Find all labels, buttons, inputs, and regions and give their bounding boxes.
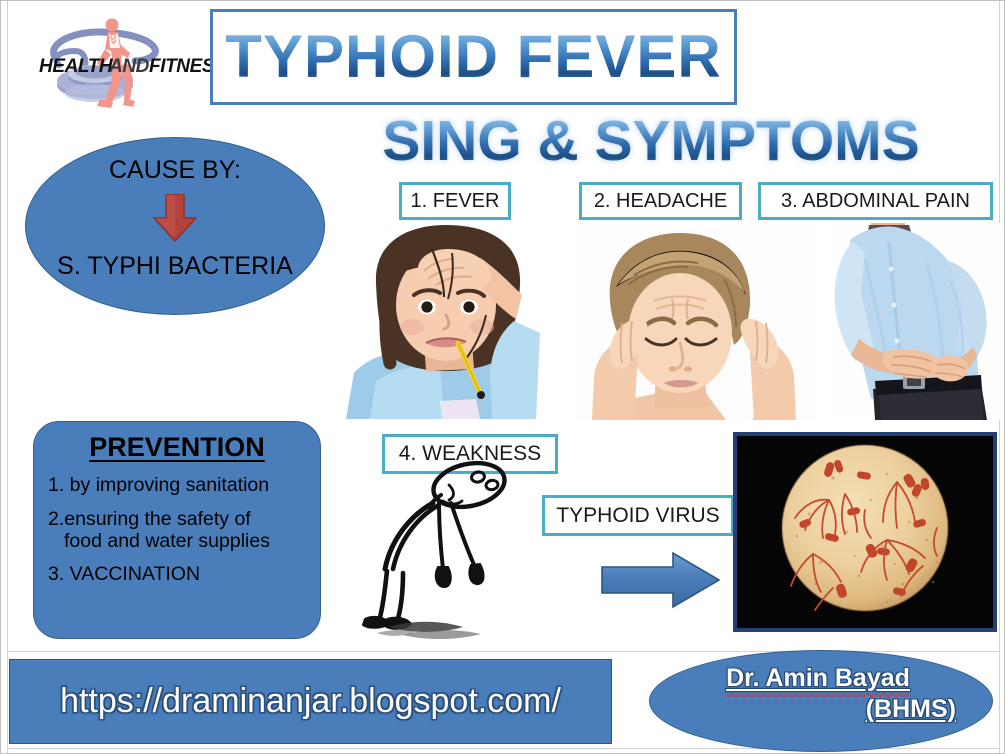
- prevention-title: PREVENTION: [48, 432, 306, 463]
- health-and-fitness-logo: HEALTH AND FITNESS: [25, 15, 211, 111]
- microscope-field-artwork: [737, 436, 993, 628]
- svg-text:AND: AND: [108, 56, 150, 77]
- symptom-label-fever: 1. FEVER: [399, 182, 511, 220]
- page-subtitle: SING & SYMPTOMS: [382, 109, 919, 173]
- subtitle-container: SING & SYMPTOMS: [301, 111, 1001, 171]
- symptom-label-headache: 2. HEADACHE: [579, 182, 742, 220]
- right-arrow-icon: [601, 551, 721, 609]
- svg-text:FITNESS: FITNESS: [149, 56, 211, 77]
- prevention-item-2-text: 2.ensuring the safety of: [48, 508, 251, 530]
- infographic-slide: HEALTH AND FITNESS TYPHOID FEVER SING & …: [0, 0, 1005, 754]
- doctor-degree: (BHMS): [866, 694, 956, 725]
- prevention-item-1-text: 1. by improving sanitation: [48, 474, 269, 496]
- prevention-item-2-continuation: food and water supplies: [48, 531, 306, 553]
- down-arrow-icon: [153, 194, 197, 242]
- prevention-item-2: 2.ensuring the safety of food and water …: [48, 509, 306, 553]
- cause-label: CAUSE BY:: [26, 156, 324, 185]
- doctor-name: Dr. Amin Bayad: [726, 663, 910, 694]
- prevention-box: PREVENTION 1. by improving sanitation 2.…: [33, 421, 321, 639]
- frame-line-left: [7, 1, 8, 754]
- svg-text:HEALTH: HEALTH: [39, 56, 114, 77]
- doctor-name-text: Dr. Amin Bayad: [726, 664, 910, 692]
- title-box: TYPHOID FEVER: [210, 9, 737, 105]
- typhoid-virus-label: TYPHOID VIRUS: [542, 495, 734, 536]
- prevention-item-3-text: 3. VACCINATION: [48, 563, 200, 585]
- blog-url-bar[interactable]: https://draminanjar.blogspot.com/: [9, 659, 612, 744]
- page-title: TYPHOID FEVER: [213, 27, 734, 87]
- typhoid-microscope-image: [733, 432, 997, 632]
- doctor-name-wrapper: Dr. Amin Bayad: [682, 663, 960, 694]
- logo-artwork: HEALTH AND FITNESS: [25, 15, 211, 111]
- cause-value: S. TYPHI BACTERIA: [26, 252, 324, 281]
- symptom-label-abdominal-pain: 3. ABDOMINAL PAIN: [758, 182, 993, 220]
- symptom-photo-abdominal-pain: [831, 223, 1005, 420]
- prevention-item-3: 3. VACCINATION: [48, 564, 306, 586]
- symptom-photo-fever: [340, 223, 564, 419]
- cause-ellipse: CAUSE BY: S. TYPHI BACTERIA: [25, 137, 325, 315]
- doctor-credit-ellipse: Dr. Amin Bayad (BHMS): [649, 650, 993, 752]
- weakness-stick-figure: [359, 459, 534, 639]
- blog-url-text[interactable]: https://draminanjar.blogspot.com/: [60, 682, 561, 721]
- symptom-photo-headache: [576, 227, 814, 420]
- doctor-degree-wrapper: (BHMS): [682, 694, 960, 725]
- prevention-item-1: 1. by improving sanitation: [48, 475, 306, 497]
